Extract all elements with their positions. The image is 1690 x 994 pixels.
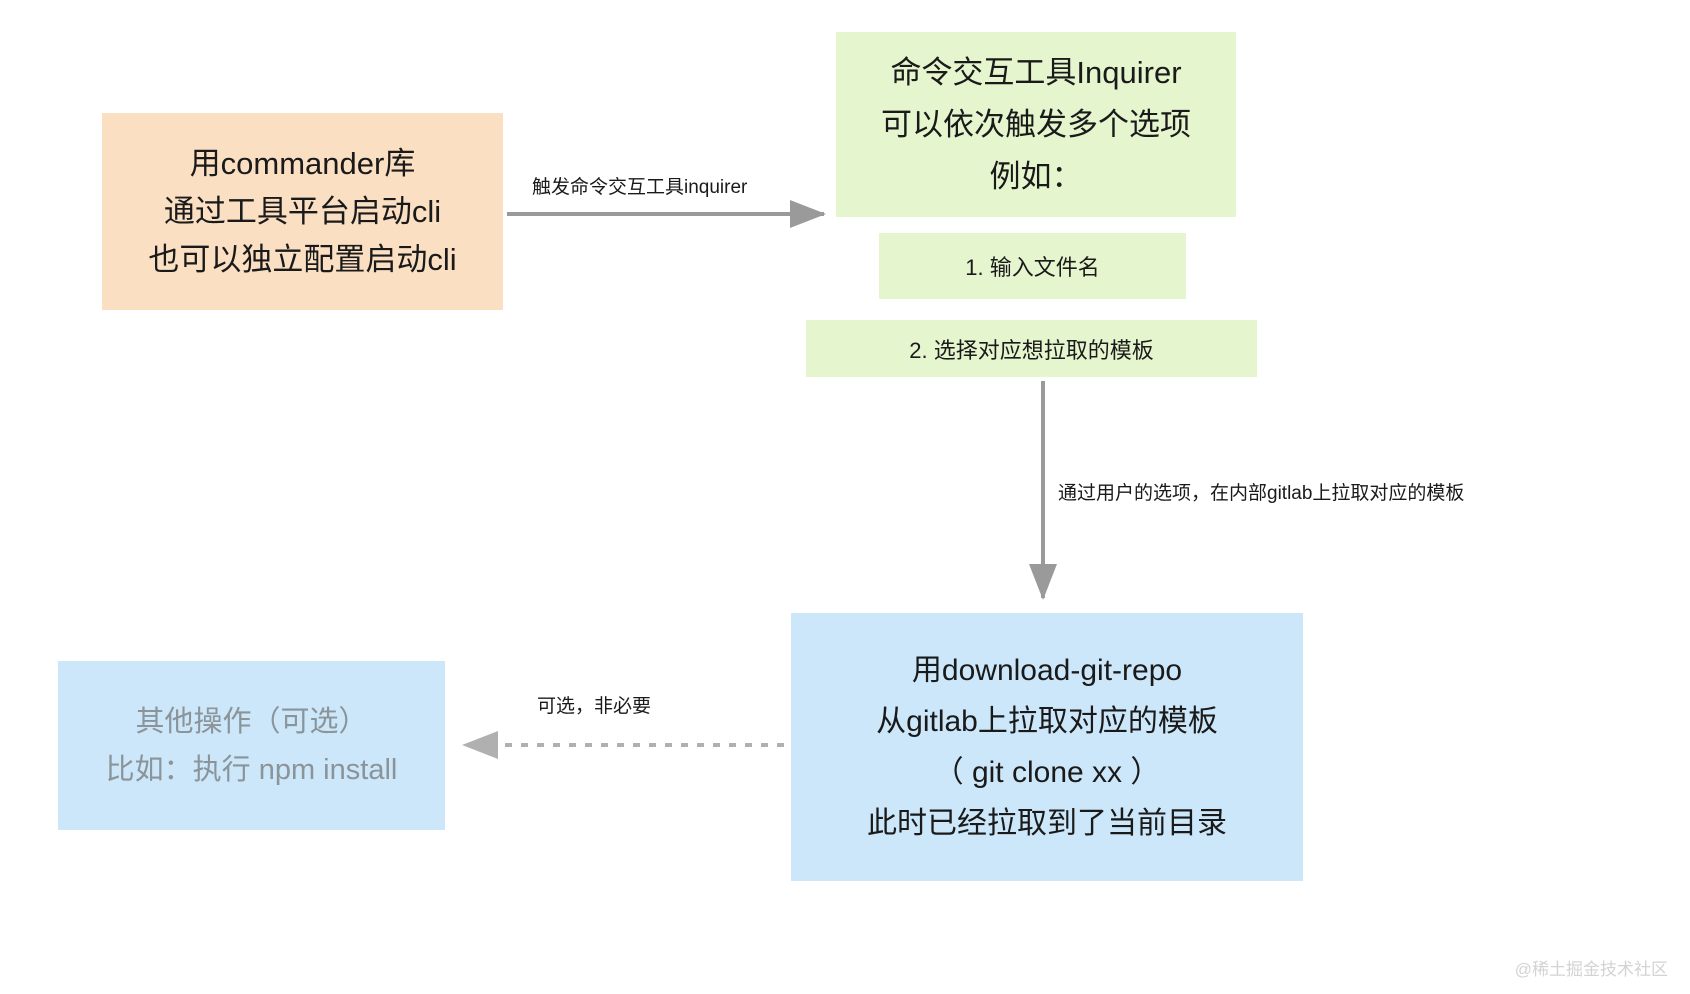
node-step-2[interactable]: 2. 选择对应想拉取的模板 [806,320,1257,377]
node-commander-line-1: 用commander库 [190,140,416,188]
edge-label-steps-to-download: 通过用户的选项，在内部gitlab上拉取对应的模板 [1058,478,1464,505]
edge-label-download-to-other-ops: 可选，非必要 [537,691,651,718]
node-download-line-2: 从gitlab上拉取对应的模板 [876,696,1218,747]
node-commander-line-3: 也可以独立配置启动cli [148,236,456,284]
node-download-line-3: （ git clone xx ） [934,747,1161,798]
node-download-line-4: 此时已经拉取到了当前目录 [867,798,1227,849]
node-inquirer-line-2: 可以依次触发多个选项 [881,99,1191,151]
node-other-operations[interactable]: 其他操作（可选） 比如：执行 npm install [58,661,445,830]
watermark: @稀土掘金技术社区 [1515,955,1668,980]
node-download-git-repo[interactable]: 用download-git-repo 从gitlab上拉取对应的模板 （ git… [791,613,1303,881]
edge-label-commander-to-inquirer: 触发命令交互工具inquirer [532,172,747,199]
node-inquirer-line-1: 命令交互工具Inquirer [890,47,1181,99]
node-download-line-1: 用download-git-repo [912,645,1182,696]
node-other-ops-line-2: 比如：执行 npm install [106,746,398,794]
node-inquirer-line-3: 例如： [990,151,1083,203]
node-commander[interactable]: 用commander库 通过工具平台启动cli 也可以独立配置启动cli [102,113,503,310]
node-step-2-label: 2. 选择对应想拉取的模板 [909,333,1153,365]
node-other-ops-line-1: 其他操作（可选） [135,698,367,746]
node-step-1-label: 1. 输入文件名 [965,250,1099,282]
node-step-1[interactable]: 1. 输入文件名 [879,233,1186,299]
node-commander-line-2: 通过工具平台启动cli [164,188,441,236]
node-inquirer[interactable]: 命令交互工具Inquirer 可以依次触发多个选项 例如： [836,32,1236,217]
